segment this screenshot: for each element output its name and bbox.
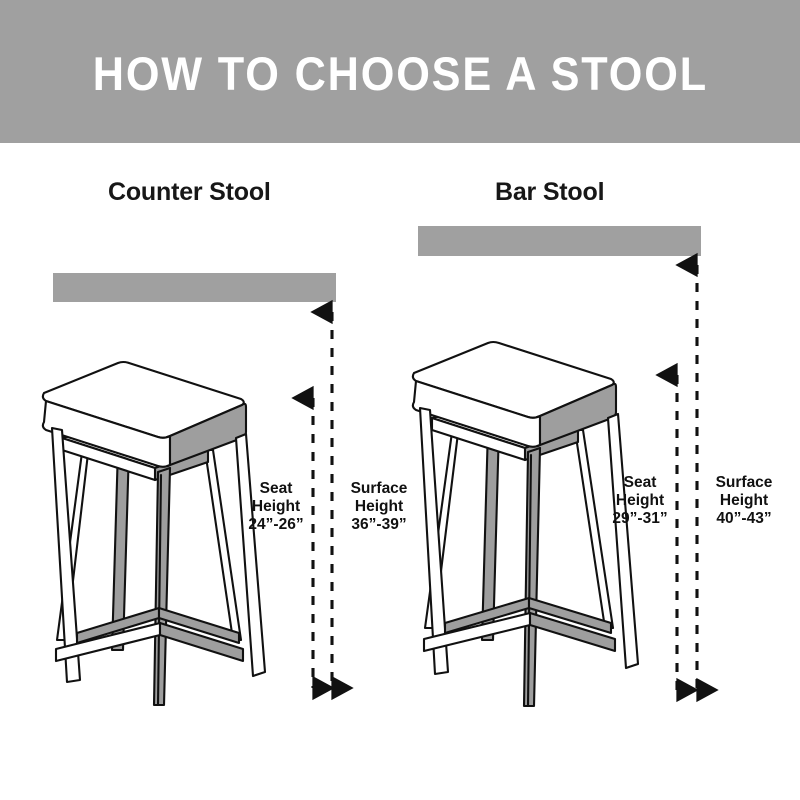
header-banner: HOW TO CHOOSE A STOOL <box>0 0 800 143</box>
label-bar-surface-height: Surface Height 40”-43” <box>703 474 785 528</box>
page-title: HOW TO CHOOSE A STOOL <box>92 50 707 97</box>
label-line-1: Seat <box>607 474 673 492</box>
label-value: 29”-31” <box>607 510 673 528</box>
label-line-1: Surface <box>703 474 785 492</box>
label-counter-surface-height: Surface Height 36”-39” <box>338 480 420 534</box>
label-line-2: Height <box>243 498 309 516</box>
label-line-2: Height <box>338 498 420 516</box>
label-value: 36”-39” <box>338 516 420 534</box>
label-line-1: Seat <box>243 480 309 498</box>
label-value: 40”-43” <box>703 510 785 528</box>
section-title-counter-stool: Counter Stool <box>108 180 271 205</box>
label-counter-seat-height: Seat Height 24”-26” <box>243 480 309 534</box>
section-title-bar-stool: Bar Stool <box>495 180 604 205</box>
label-line-1: Surface <box>338 480 420 498</box>
label-value: 24”-26” <box>243 516 309 534</box>
counter-surface-bar <box>53 273 336 302</box>
bar-surface-bar <box>418 226 701 256</box>
infographic-page: HOW TO CHOOSE A STOOL Counter Stool Bar … <box>0 0 800 800</box>
label-line-2: Height <box>607 492 673 510</box>
label-line-2: Height <box>703 492 785 510</box>
label-bar-seat-height: Seat Height 29”-31” <box>607 474 673 528</box>
